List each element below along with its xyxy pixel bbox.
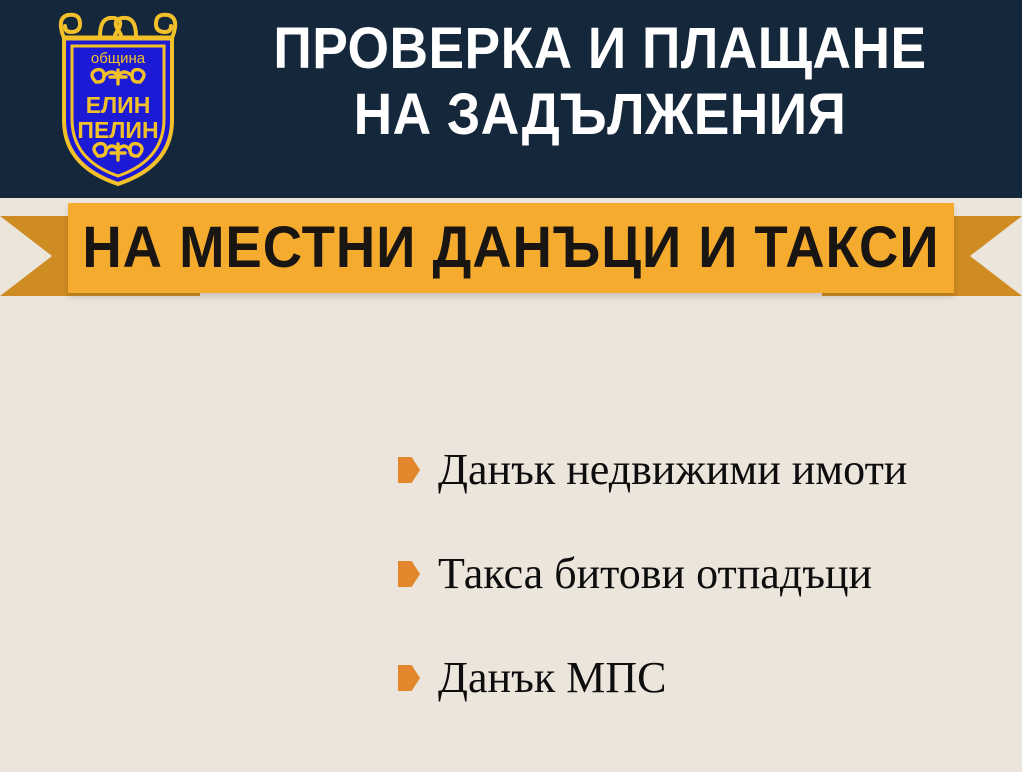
stamp-collage xyxy=(0,300,420,760)
logo-name-line-2: ПЕЛИН xyxy=(77,117,158,143)
arrow-bullet-icon xyxy=(398,561,420,587)
logo-top-text: община xyxy=(91,50,146,67)
poster-title: ПРОВЕРКА И ПЛАЩАНЕ НА ЗАДЪЛЖЕНИЯ xyxy=(190,16,1010,148)
list-item[interactable]: Данък недвижими имоти xyxy=(398,418,1018,522)
arrow-bullet-icon xyxy=(398,457,420,483)
list-item[interactable]: Данък МПС xyxy=(398,626,1018,730)
arrow-bullet-icon xyxy=(398,665,420,691)
stamp-inner-area xyxy=(41,331,208,498)
list-item[interactable]: Такса битови отпадъци xyxy=(398,522,1018,626)
ribbon-band: НА МЕСТНИ ДАНЪЦИ И ТАКСИ xyxy=(68,203,954,293)
tax-type-list: Данък недвижими имоти Такса битови отпад… xyxy=(398,418,1018,730)
list-item-label: Данък недвижими имоти xyxy=(438,445,907,495)
ribbon-label: НА МЕСТНИ ДАНЪЦИ И ТАКСИ xyxy=(82,218,939,278)
list-item-label: Такса битови отпадъци xyxy=(438,549,872,599)
coat-of-arms-icon: община ЕЛИН ПЕЛИН xyxy=(38,8,198,190)
house-icon xyxy=(69,362,179,465)
header-bar: община ЕЛИН ПЕЛИН xyxy=(0,0,1022,198)
title-line-2: НА ЗАДЪЛЖЕНИЯ xyxy=(223,82,977,148)
title-line-1: ПРОВЕРКА И ПЛАЩАНЕ xyxy=(223,16,977,82)
municipality-logo: община ЕЛИН ПЕЛИН xyxy=(38,8,198,190)
list-item-label: Данък МПС xyxy=(438,653,666,703)
logo-name-line-1: ЕЛИН xyxy=(86,92,151,118)
stamp-card-property xyxy=(17,307,230,520)
subtitle-ribbon: НА МЕСТНИ ДАНЪЦИ И ТАКСИ xyxy=(0,198,1022,308)
car-front-icon xyxy=(133,580,264,696)
poster-canvas: община ЕЛИН ПЕЛИН xyxy=(0,0,1022,772)
